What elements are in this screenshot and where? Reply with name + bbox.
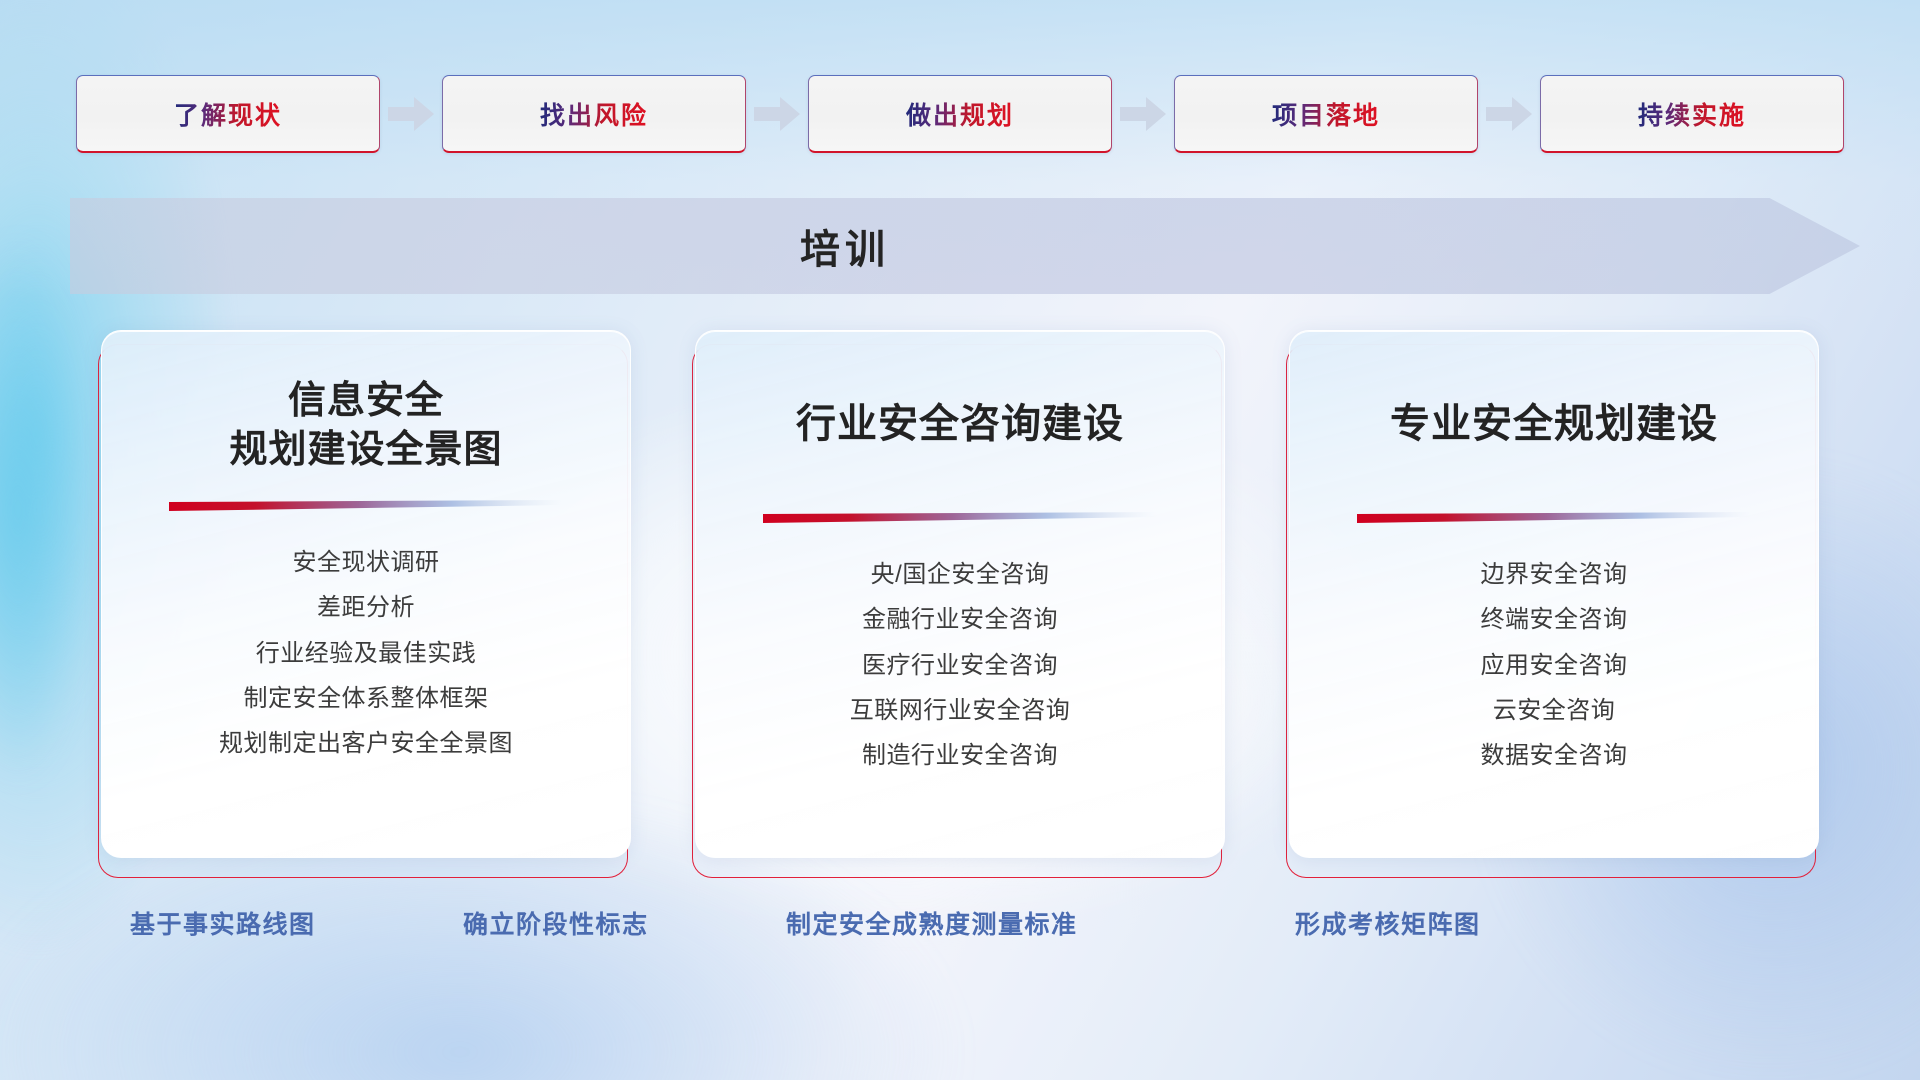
step-box-5[interactable]: 持续实施: [1540, 75, 1844, 153]
card-title-line: 规划建设全景图: [229, 426, 502, 475]
list-item: 制造行业安全咨询: [862, 740, 1058, 771]
list-item: 终端安全咨询: [1481, 604, 1628, 635]
step-label: 项目落地: [1272, 96, 1380, 132]
footer-label-3: 制定安全成熟度测量标准: [786, 905, 1078, 941]
list-item: 边界安全咨询: [1481, 559, 1628, 590]
card-list: 边界安全咨询 终端安全咨询 应用安全咨询 云安全咨询 数据安全咨询: [1481, 559, 1628, 771]
card-divider: [169, 500, 563, 513]
list-item: 数据安全咨询: [1481, 740, 1628, 771]
list-item: 云安全咨询: [1493, 695, 1616, 726]
arrow-right-icon: [380, 75, 442, 153]
list-item: 医疗行业安全咨询: [862, 650, 1058, 681]
card-3[interactable]: 专业安全规划建设 边界安: [1289, 330, 1819, 870]
list-item: 安全现状调研: [293, 547, 440, 578]
training-banner: 培训: [70, 198, 1860, 294]
step-box-3[interactable]: 做出规划: [808, 75, 1112, 153]
list-item: 央/国企安全咨询: [871, 559, 1050, 590]
card-body[interactable]: 行业安全咨询建设 央/国: [695, 330, 1225, 858]
list-item: 规划制定出客户安全全景图: [219, 728, 513, 759]
list-item: 金融行业安全咨询: [862, 604, 1058, 635]
arrow-right-icon: [746, 75, 808, 153]
list-item: 制定安全体系整体框架: [244, 683, 489, 714]
card-title-line: 信息安全: [229, 377, 502, 426]
card-divider: [1357, 512, 1751, 525]
arrow-right-icon: [1478, 75, 1540, 153]
step-label: 找出风险: [540, 96, 648, 132]
footer-label-2: 确立阶段性标志: [463, 905, 649, 941]
list-item: 行业经验及最佳实践: [256, 638, 477, 669]
card-title-line: 行业安全咨询建设: [796, 399, 1124, 450]
list-item: 互联网行业安全咨询: [850, 695, 1071, 726]
card-title-line: 专业安全规划建设: [1390, 399, 1718, 450]
step-box-1[interactable]: 了解现状: [76, 75, 380, 153]
card-list: 央/国企安全咨询 金融行业安全咨询 医疗行业安全咨询 互联网行业安全咨询 制造行…: [850, 559, 1071, 771]
card-list: 安全现状调研 差距分析 行业经验及最佳实践 制定安全体系整体框架 规划制定出客户…: [219, 547, 513, 759]
card-title: 行业安全咨询建设: [796, 399, 1124, 450]
step-box-4[interactable]: 项目落地: [1174, 75, 1478, 153]
card-2[interactable]: 行业安全咨询建设 央/国: [695, 330, 1225, 870]
card-title: 信息安全 规划建设全景图: [229, 377, 502, 474]
footer-label-4: 形成考核矩阵图: [1295, 905, 1481, 941]
arrow-right-icon: [1112, 75, 1174, 153]
step-box-2[interactable]: 找出风险: [442, 75, 746, 153]
process-steps-row: 了解现状 找出风险 做出规划 项目落地 持续实施: [0, 75, 1920, 153]
card-title: 专业安全规划建设: [1390, 399, 1718, 450]
step-label: 持续实施: [1638, 96, 1746, 132]
card-divider: [763, 512, 1157, 525]
training-banner-label: 培训: [800, 217, 890, 275]
list-item: 差距分析: [317, 592, 415, 623]
footer-labels-row: 基于事实路线图 确立阶段性标志 制定安全成熟度测量标准 形成考核矩阵图: [0, 905, 1920, 965]
step-label: 了解现状: [174, 96, 282, 132]
card-1[interactable]: 信息安全 规划建设全景图: [101, 330, 631, 870]
list-item: 应用安全咨询: [1481, 650, 1628, 681]
card-body[interactable]: 专业安全规划建设 边界安: [1289, 330, 1819, 858]
training-banner-label-wrap: 培训: [70, 198, 1860, 294]
footer-label-1: 基于事实路线图: [130, 905, 316, 941]
card-body[interactable]: 信息安全 规划建设全景图: [101, 330, 631, 858]
step-label: 做出规划: [906, 96, 1014, 132]
cards-row: 信息安全 规划建设全景图: [0, 330, 1920, 870]
